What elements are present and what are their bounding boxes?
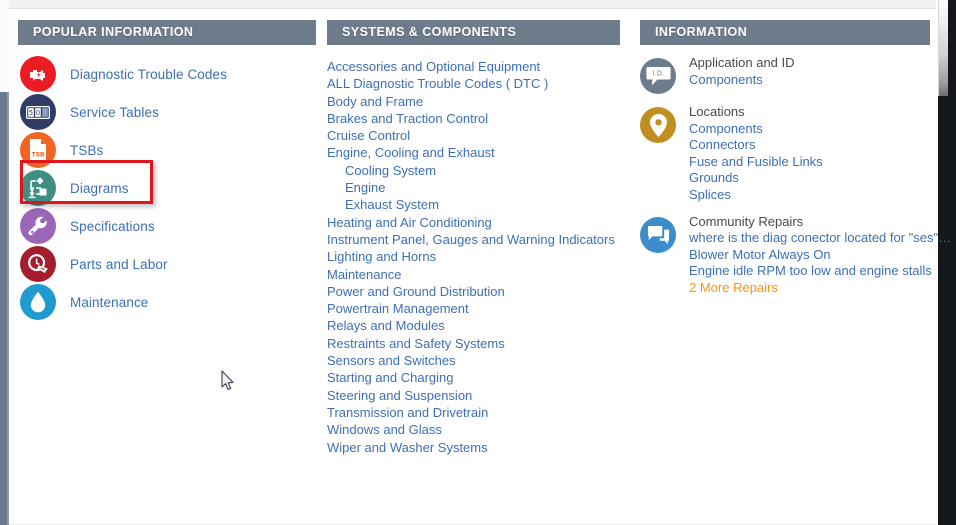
information-group-body: LocationsComponentsConnectorsFuse and Fu… [689, 104, 823, 204]
systems-components-column: SYSTEMS & COMPONENTS Accessories and Opt… [327, 20, 620, 456]
popular-item-label: Diagrams [70, 181, 129, 196]
vertical-scrollbar-thumb[interactable] [938, 0, 948, 96]
popular-item-label: Maintenance [70, 295, 148, 310]
system-link[interactable]: Cooling System [327, 162, 620, 179]
oil-drop-icon [20, 284, 56, 320]
information-group: LocationsComponentsConnectorsFuse and Fu… [640, 104, 930, 204]
popular-item-label: Specifications [70, 219, 155, 234]
system-link[interactable]: Starting and Charging [327, 369, 620, 386]
system-link[interactable]: Powertrain Management [327, 300, 620, 317]
odometer-icon: 50 [20, 94, 56, 130]
system-link[interactable]: Maintenance [327, 266, 620, 283]
system-link[interactable]: Engine [327, 179, 620, 196]
information-link[interactable]: Fuse and Fusible Links [689, 154, 823, 171]
systems-components-header: SYSTEMS & COMPONENTS [327, 20, 620, 45]
wrench-icon [20, 208, 56, 244]
popular-item-service-tables[interactable]: 50Service Tables [18, 93, 316, 131]
popular-information-header: POPULAR INFORMATION [18, 20, 316, 45]
system-link[interactable]: Transmission and Drivetrain [327, 404, 620, 421]
information-link[interactable]: Blower Motor Always On [689, 247, 951, 264]
information-group-title: Application and ID [689, 55, 795, 72]
system-link[interactable]: Heating and Air Conditioning [327, 214, 620, 231]
information-link[interactable]: Engine idle RPM too low and engine stall… [689, 263, 951, 280]
wiring-diagram-icon [20, 170, 56, 206]
information-link[interactable]: Grounds [689, 170, 823, 187]
popular-information-column: POPULAR INFORMATION Diagnostic Trouble C… [18, 20, 316, 321]
information-group-body: Community Repairswhere is the diag conec… [689, 214, 951, 297]
popular-item-tsbs[interactable]: TSBTSBs [18, 131, 316, 169]
chat-bubbles-icon [640, 217, 676, 253]
information-group: Community Repairswhere is the diag conec… [640, 214, 930, 297]
system-link[interactable]: Body and Frame [327, 93, 620, 110]
system-link[interactable]: Exhaust System [327, 196, 620, 213]
map-pin-icon [640, 107, 676, 143]
more-repairs-link[interactable]: 2 More Repairs [689, 280, 951, 297]
system-link[interactable]: Wiper and Washer Systems [327, 439, 620, 456]
parts-tag-icon [20, 246, 56, 282]
left-edge-light [0, 0, 9, 92]
popular-item-specifications[interactable]: Specifications [18, 207, 316, 245]
information-group-body: Application and IDComponents [689, 55, 795, 94]
information-group-title: Locations [689, 104, 823, 121]
popular-item-maintenance[interactable]: Maintenance [18, 283, 316, 321]
information-group-title: Community Repairs [689, 214, 951, 231]
information-header: INFORMATION [640, 20, 930, 45]
system-link[interactable]: Restraints and Safety Systems [327, 335, 620, 352]
popular-information-list: Diagnostic Trouble Codes50Service Tables… [18, 55, 316, 321]
popular-item-label: Parts and Labor [70, 257, 168, 272]
system-link[interactable]: Cruise Control [327, 127, 620, 144]
popular-item-label: Service Tables [70, 105, 159, 120]
system-link[interactable]: Power and Ground Distribution [327, 283, 620, 300]
dtc-engine-icon [20, 56, 56, 92]
mouse-cursor [221, 370, 235, 391]
system-link[interactable]: Steering and Suspension [327, 387, 620, 404]
popular-item-diagnostic-trouble-codes[interactable]: Diagnostic Trouble Codes [18, 55, 316, 93]
system-link[interactable]: Sensors and Switches [327, 352, 620, 369]
svg-text:5: 5 [29, 109, 33, 117]
popular-item-label: TSBs [70, 143, 103, 158]
browser-top-strip [0, 0, 956, 9]
popular-item-diagrams[interactable]: Diagrams [18, 169, 316, 207]
system-link[interactable]: Instrument Panel, Gauges and Warning Ind… [327, 231, 620, 248]
information-link[interactable]: where is the diag conector located for "… [689, 230, 951, 247]
information-link[interactable]: Components [689, 121, 823, 138]
information-link[interactable]: Connectors [689, 137, 823, 154]
information-link[interactable]: Components [689, 72, 795, 89]
system-link[interactable]: Accessories and Optional Equipment [327, 58, 620, 75]
tsb-document-icon: TSB [20, 132, 56, 168]
svg-text:TSB: TSB [32, 151, 45, 158]
system-link[interactable]: Brakes and Traction Control [327, 110, 620, 127]
popular-item-parts-and-labor[interactable]: Parts and Labor [18, 245, 316, 283]
systems-components-list: Accessories and Optional EquipmentALL Di… [327, 58, 620, 456]
popular-item-label: Diagnostic Trouble Codes [70, 67, 227, 82]
system-link[interactable]: Lighting and Horns [327, 248, 620, 265]
information-groups: I.D.Application and IDComponentsLocation… [640, 55, 930, 297]
system-link[interactable]: ALL Diagnostic Trouble Codes ( DTC ) [327, 75, 620, 92]
information-group: I.D.Application and IDComponents [640, 55, 930, 94]
information-column: INFORMATION I.D.Application and IDCompon… [640, 20, 930, 307]
svg-text:0: 0 [36, 109, 40, 117]
system-link[interactable]: Relays and Modules [327, 317, 620, 334]
left-edge-panel [0, 92, 9, 525]
svg-text:I.D.: I.D. [652, 69, 663, 77]
system-link[interactable]: Engine, Cooling and Exhaust [327, 144, 620, 161]
information-link[interactable]: Splices [689, 187, 823, 204]
system-link[interactable]: Windows and Glass [327, 421, 620, 438]
page-root: POPULAR INFORMATION Diagnostic Trouble C… [0, 0, 956, 525]
id-speech-bubble-icon: I.D. [640, 58, 676, 94]
